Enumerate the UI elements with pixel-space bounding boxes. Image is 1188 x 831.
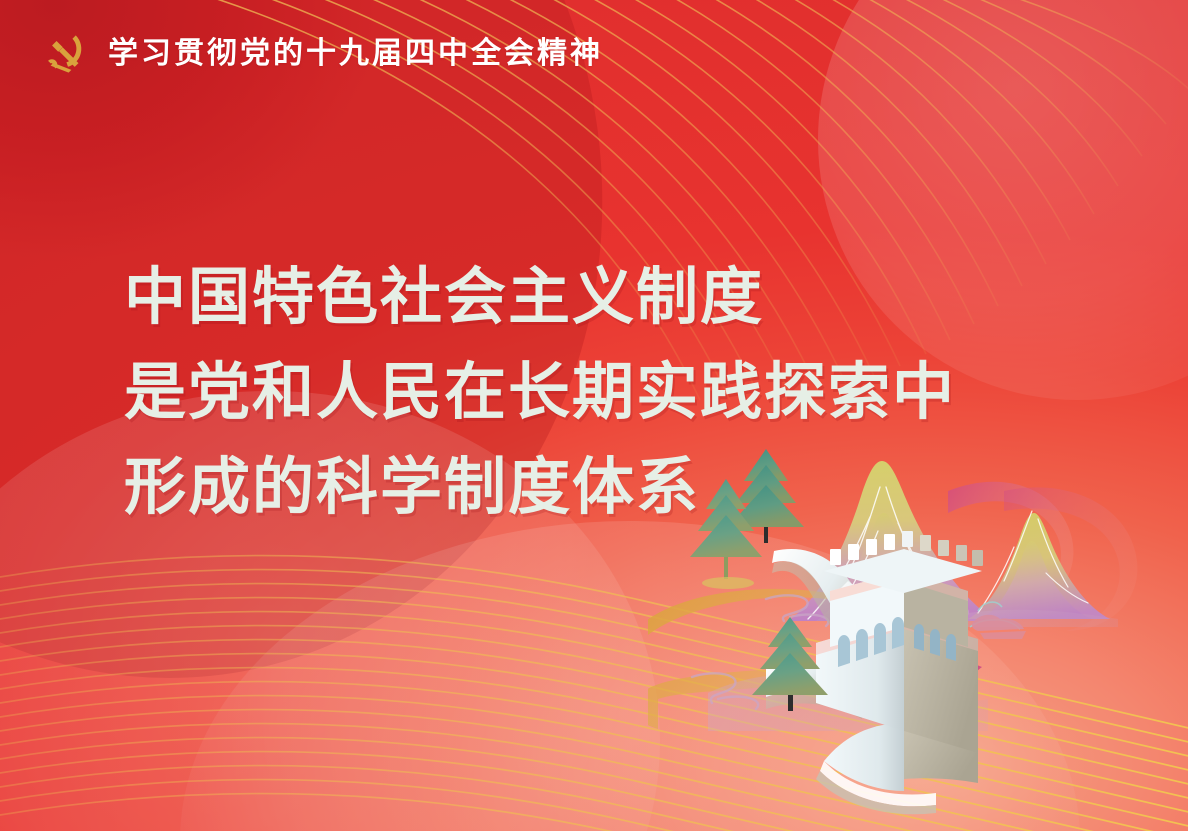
great-wall-watchtower (816, 531, 983, 814)
header-title: 学习贯彻党的十九届四中全会精神 (108, 39, 603, 69)
header: 学习贯彻党的十九届四中全会精神 (38, 28, 603, 80)
poster-canvas: 学习贯彻党的十九届四中全会精神 中国特色社会主义制度 是党和人民在长期实践探索中… (0, 0, 1188, 831)
party-emblem-hammer-sickle-icon (38, 28, 90, 80)
headline-block: 中国特色社会主义制度 是党和人民在长期实践探索中 形成的科学制度体系 (124, 266, 956, 518)
headline-line-1: 中国特色社会主义制度 (124, 266, 956, 328)
headline-line-3: 形成的科学制度体系 (124, 456, 956, 518)
headline-line-2: 是党和人民在长期实践探索中 (124, 361, 956, 423)
